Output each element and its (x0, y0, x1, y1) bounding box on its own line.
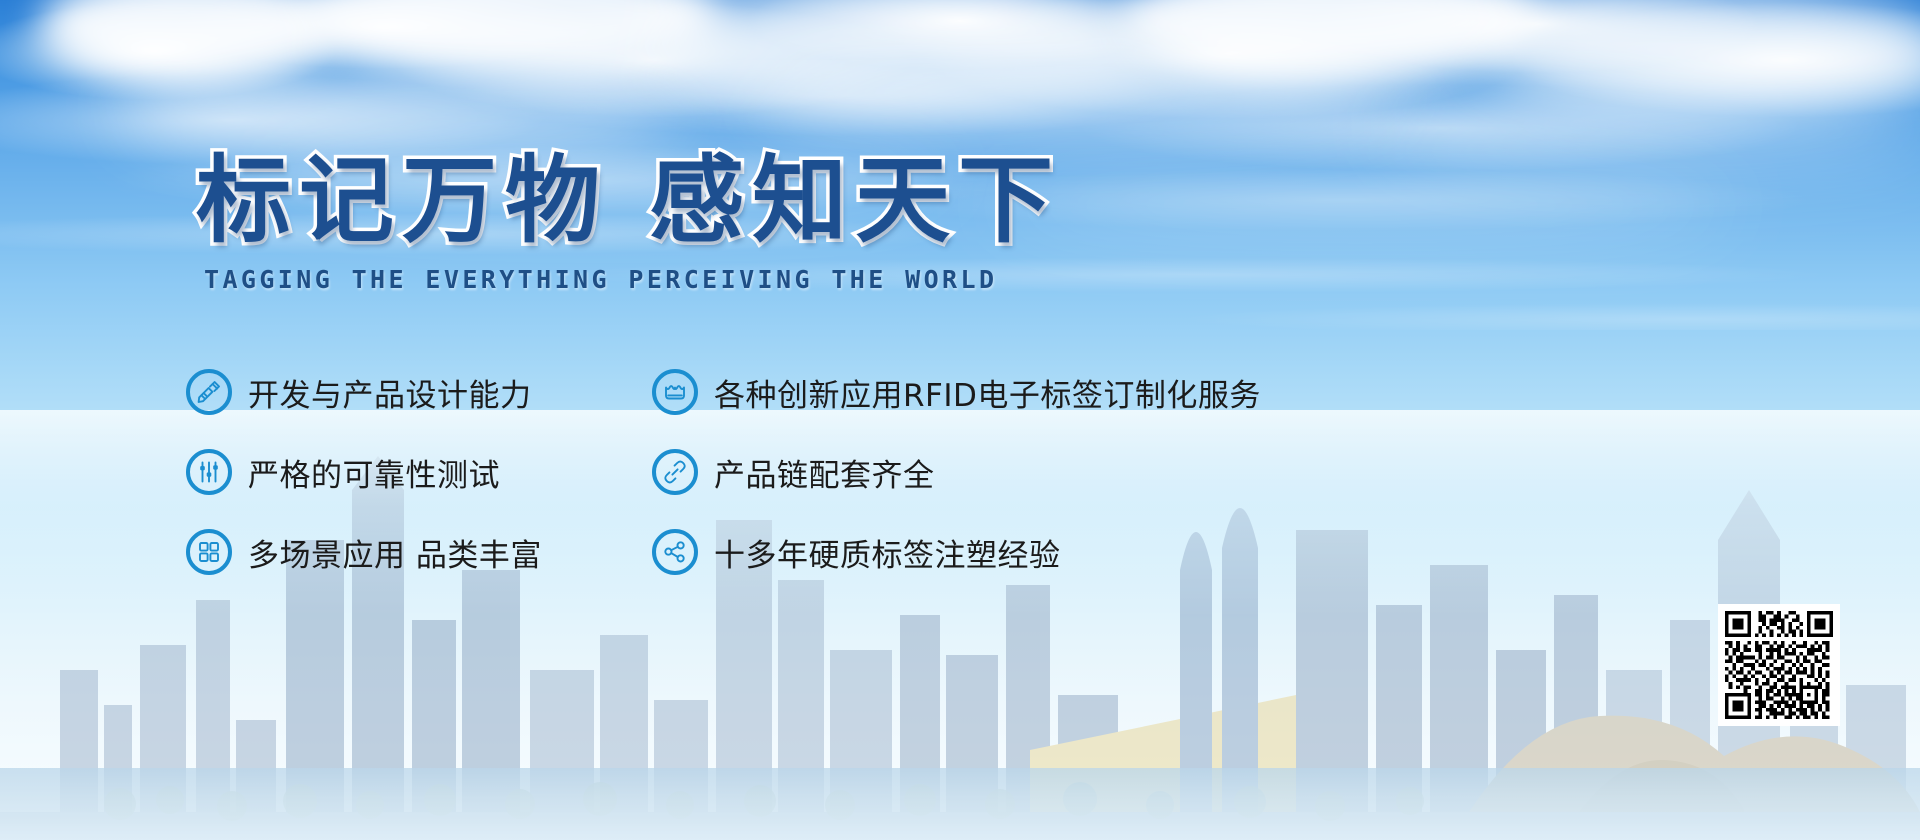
feature-label: 各种创新应用RFID电子标签订制化服务 (714, 370, 1261, 415)
feature-label: 产品链配套齐全 (714, 450, 935, 495)
feature-label: 多场景应用 品类丰富 (248, 530, 542, 575)
share-nodes-icon (652, 529, 698, 575)
cloud-puff (300, 0, 720, 75)
feature-label: 十多年硬质标签注塑经验 (714, 530, 1061, 575)
feature-item-multi-scenario-applications: 多场景应用 品类丰富 (186, 512, 616, 592)
feature-item-design-capability: 开发与产品设计能力 (186, 352, 616, 432)
waterfront (0, 768, 1920, 840)
cloud-band-upper (0, 0, 1920, 150)
feature-item-reliability-testing: 严格的可靠性测试 (186, 432, 616, 512)
cloud-puff (1380, 90, 1920, 160)
chain-link-icon (652, 449, 698, 495)
cloud-puff (40, 0, 340, 80)
grid-squares-icon (186, 529, 232, 575)
ruler-pencil-icon (186, 369, 232, 415)
crown-icon (652, 369, 698, 415)
sliders-icon (186, 449, 232, 495)
feature-item-injection-molding-experience: 十多年硬质标签注塑经验 (652, 512, 1316, 592)
promo-banner: 标记万物 感知天下 TAGGING THE EVERYTHING PERCEIV… (0, 0, 1920, 840)
qr-code[interactable] (1718, 604, 1840, 726)
cloud-puff (1480, 0, 1920, 110)
feature-label: 开发与产品设计能力 (248, 370, 532, 415)
cloud-puff (760, 55, 1400, 131)
feature-item-rfid-custom-service: 各种创新应用RFID电子标签订制化服务 (652, 352, 1316, 432)
cloud-puff (640, 0, 1160, 100)
feature-list: 开发与产品设计能力 各种创新应用RFID电子标签订制化服务 (186, 352, 1316, 592)
feature-item-complete-product-chain: 产品链配套齐全 (652, 432, 1316, 512)
cloud-puff (120, 70, 680, 150)
feature-label: 严格的可靠性测试 (248, 450, 500, 495)
page-subtitle: TAGGING THE EVERYTHING PERCEIVING THE WO… (204, 265, 1296, 294)
page-title: 标记万物 感知天下 (196, 150, 1296, 253)
cloud-puff (1120, 0, 1540, 80)
headline-block: 标记万物 感知天下 TAGGING THE EVERYTHING PERCEIV… (196, 150, 1296, 294)
